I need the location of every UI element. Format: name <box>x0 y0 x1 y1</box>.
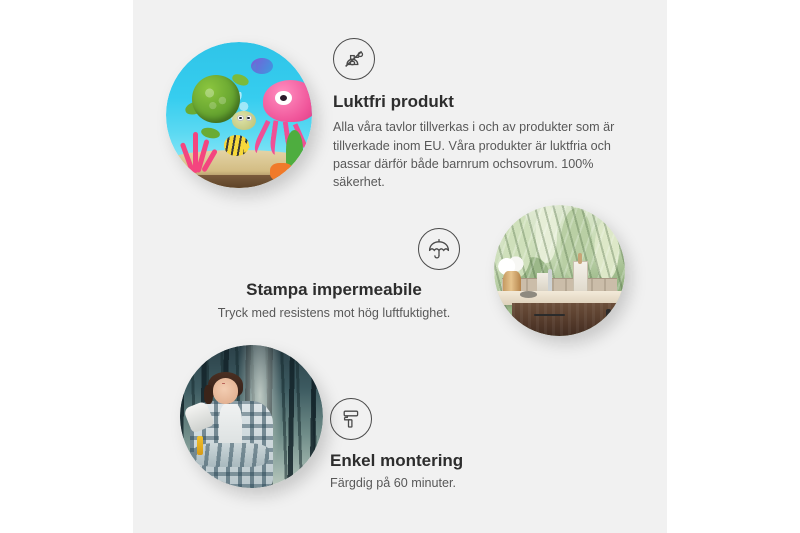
photo-inner <box>494 205 625 336</box>
feature-description: Färgdig på 60 minuter. <box>330 474 610 492</box>
feature-easy-install: Enkel montering Färgdig på 60 minuter. <box>330 398 610 493</box>
octopus-eye <box>275 91 292 105</box>
no-fragrance-bottle-icon <box>333 38 375 80</box>
paint-roller-icon <box>330 398 372 440</box>
feature-odorless: Luktfri produkt Alla våra tavlor tillver… <box>333 38 633 191</box>
feature-description: Tryck med resistens mot hög luftfuktighe… <box>208 304 460 322</box>
wood-vanity <box>512 303 625 336</box>
page-root: Luktfri produkt Alla våra tavlor tillver… <box>0 0 800 533</box>
drawer-handle <box>534 314 565 316</box>
umbrella-icon <box>418 228 460 270</box>
paint-roller-handle <box>197 436 203 455</box>
photo-inner <box>166 42 312 188</box>
photo-inner <box>180 345 323 488</box>
turtle-eye <box>237 115 243 121</box>
woman-paint-roller-forest-photo <box>180 345 323 488</box>
woman-figure <box>189 371 275 488</box>
blue-fish <box>251 58 273 74</box>
folded-arms <box>194 443 270 466</box>
turtle-head <box>232 111 256 130</box>
feature-waterproof: Stampa impermeabile Tryck med resistens … <box>208 228 460 323</box>
smile <box>222 383 226 384</box>
turtle-eye <box>246 115 252 121</box>
cabinet-handle <box>606 309 611 327</box>
jar <box>537 273 547 293</box>
face <box>213 378 239 404</box>
feature-title: Enkel montering <box>330 451 610 471</box>
feature-description: Alla våra tavlor tillverkas i och av pro… <box>333 118 633 191</box>
octopus-body <box>263 80 312 122</box>
feature-title: Stampa impermeabile <box>208 280 460 300</box>
yellow-fish <box>224 135 249 155</box>
turtle-figure <box>186 71 253 135</box>
feature-title: Luktfri produkt <box>333 92 633 112</box>
pink-coral <box>182 130 217 174</box>
bathroom-tropical-wallpaper-photo <box>494 205 625 336</box>
starfish <box>270 163 293 181</box>
faucet <box>548 269 552 293</box>
underwater-kids-mural-photo <box>166 42 312 188</box>
octopus-figure <box>257 80 312 150</box>
